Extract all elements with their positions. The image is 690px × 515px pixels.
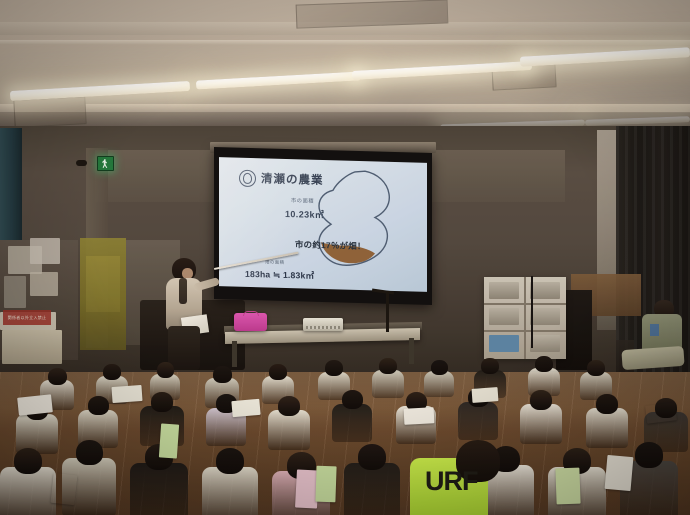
student-head bbox=[379, 358, 397, 374]
student-head bbox=[14, 448, 42, 474]
storage-shelving-unit bbox=[484, 277, 566, 359]
shirt-graphic-text: URF bbox=[425, 466, 478, 497]
student-head bbox=[587, 360, 605, 376]
storage-bin bbox=[530, 282, 560, 299]
worksheet-handout bbox=[645, 402, 677, 424]
projection-screen: 清瀬の農業 市の面積 10.23k㎡ 市の約17％が畑！ 畑の面積 183ha … bbox=[219, 157, 427, 292]
storage-bin bbox=[489, 335, 519, 352]
student-head bbox=[325, 360, 343, 376]
worksheet-handout bbox=[315, 466, 336, 503]
running-person-icon bbox=[102, 159, 108, 168]
slide-title: 清瀬の農業 bbox=[261, 170, 324, 188]
student-torso bbox=[586, 408, 628, 448]
student-head bbox=[431, 360, 448, 375]
kiyose-city-emblem-icon bbox=[239, 170, 256, 187]
student-head bbox=[530, 390, 552, 410]
microphone-stand bbox=[386, 292, 389, 332]
adult-badge bbox=[650, 324, 659, 336]
worksheet-handout bbox=[472, 387, 499, 403]
presenter-scarf bbox=[179, 278, 187, 304]
worksheet-handout bbox=[605, 455, 634, 491]
slide-farm-area-value: 183ha ≒ 1.83k㎡ bbox=[245, 268, 314, 282]
shelf-divider bbox=[524, 277, 526, 359]
fluorescent-light bbox=[520, 47, 690, 66]
storage-box bbox=[4, 276, 26, 308]
adult-legs bbox=[621, 346, 684, 370]
student-torso bbox=[344, 463, 400, 515]
student-torso bbox=[130, 463, 188, 515]
student-head bbox=[213, 366, 232, 383]
student-head bbox=[358, 444, 386, 470]
student-head bbox=[278, 396, 300, 416]
presenter-lower-body bbox=[168, 326, 200, 370]
storage-bin bbox=[530, 335, 560, 352]
exit-sign bbox=[97, 156, 114, 171]
table-leg bbox=[232, 341, 237, 367]
power-cable bbox=[531, 276, 533, 348]
student-head bbox=[481, 358, 499, 374]
storage-box bbox=[30, 272, 58, 296]
student-head bbox=[535, 356, 553, 372]
projector bbox=[303, 318, 343, 331]
ceiling-beam bbox=[0, 40, 690, 45]
storage-bin bbox=[530, 308, 560, 325]
student-head bbox=[76, 440, 103, 465]
student-torso bbox=[332, 404, 372, 442]
red-notice-text: 関係者以外立入禁止 bbox=[3, 310, 51, 325]
storage-bin bbox=[489, 308, 519, 325]
student-head bbox=[103, 364, 121, 380]
student-torso bbox=[520, 404, 562, 444]
storage-bin bbox=[489, 282, 519, 299]
worksheet-handout bbox=[111, 385, 142, 403]
kiyose-map-outline-icon bbox=[303, 167, 395, 282]
fluorescent-light bbox=[10, 81, 190, 101]
classroom-presentation-photo: 関係者以外立入禁止 清瀬の農業 市の面積 10.23k㎡ 市の約17％が畑！ 畑… bbox=[0, 0, 690, 515]
ceiling bbox=[0, 0, 690, 130]
slide-farm-area-label: 畑の面積 bbox=[265, 259, 285, 266]
student-head bbox=[635, 442, 663, 468]
worksheet-handout bbox=[231, 399, 260, 417]
student-head bbox=[596, 394, 618, 414]
worksheet-handout bbox=[555, 468, 580, 505]
student-head bbox=[151, 392, 173, 412]
motion-sensor bbox=[76, 160, 87, 166]
student-head bbox=[216, 448, 244, 474]
presenter bbox=[160, 258, 216, 370]
wooden-door[interactable] bbox=[80, 238, 126, 350]
storage-cabinet bbox=[2, 330, 62, 364]
storage-box bbox=[30, 238, 60, 264]
student-head bbox=[342, 390, 363, 409]
student-head bbox=[48, 368, 67, 385]
student-torso bbox=[268, 410, 310, 450]
fluorescent-light bbox=[196, 71, 361, 89]
worksheet-handout bbox=[404, 407, 435, 425]
slide-callout-text: 市の約17％が畑！ bbox=[295, 238, 366, 252]
student-head bbox=[88, 396, 109, 415]
pink-equipment-case bbox=[234, 313, 267, 331]
worksheet-handout bbox=[17, 394, 53, 415]
student-head bbox=[157, 362, 174, 378]
slide-city-area-label: 市の面積 bbox=[291, 197, 314, 205]
student-head bbox=[269, 364, 287, 380]
student-torso bbox=[458, 402, 498, 440]
worksheet-handout bbox=[159, 423, 179, 458]
worksheet-handout bbox=[50, 473, 77, 505]
slide-city-area-value: 10.23k㎡ bbox=[285, 207, 324, 221]
red-notice-label: 関係者以外立入禁止 bbox=[3, 310, 51, 325]
table-leg bbox=[409, 338, 414, 364]
